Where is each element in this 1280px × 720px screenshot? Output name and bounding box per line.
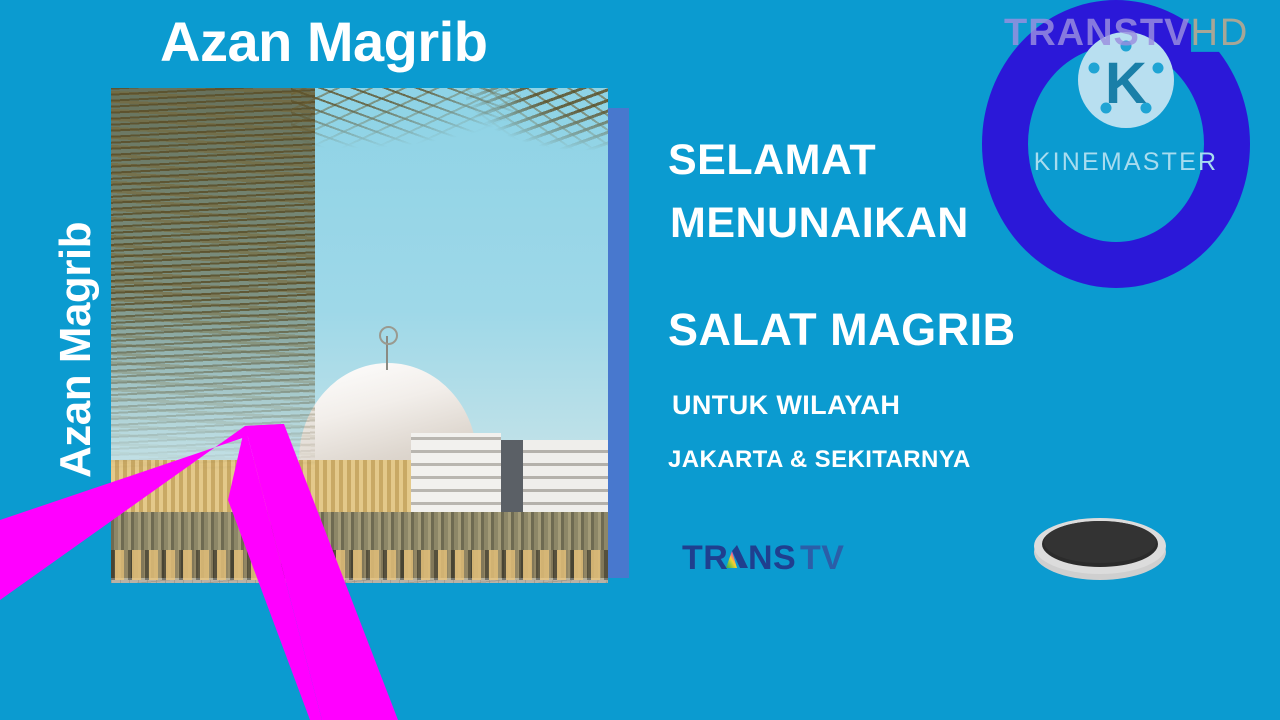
transtv-logo: TR NS TV	[682, 538, 862, 578]
transtv-hd-suffix: HD	[1190, 12, 1249, 54]
message-line-region: JAKARTA & SEKITARNYA	[668, 447, 1098, 472]
photo-willow-branches	[111, 88, 315, 472]
kinemaster-wordmark: KINEMASTER	[966, 148, 1280, 177]
transtv-logo-tv: TV	[800, 539, 844, 577]
photo-plaza-ground	[111, 580, 608, 583]
kinemaster-watermark: K TRANSTVHD KINEMASTER	[966, 0, 1280, 318]
photo-mosque-arcade	[111, 550, 608, 582]
istiqlal-mosque-photo	[111, 88, 608, 583]
transtv-hd-watermark: TRANSTVHD	[1004, 12, 1264, 55]
vertical-side-title: Azan Magrib	[51, 190, 101, 510]
message-line-untuk-wilayah: UNTUK WILAYAH	[672, 391, 1098, 419]
photo-right-branches	[466, 88, 608, 166]
dark-ellipse-bowl	[1032, 512, 1168, 582]
transtv-logo-tr: TR	[682, 539, 728, 577]
broadcast-overlay-screen: Azan Magrib Azan Magrib SELAMAT MENUNAIK…	[0, 0, 1280, 720]
page-title: Azan Magrib	[160, 14, 487, 70]
transtv-hd-name: TRANSTV	[1004, 12, 1190, 54]
transtv-logo-ns: NS	[748, 539, 796, 577]
photo-accent-bar	[608, 108, 629, 578]
svg-text:K: K	[1105, 51, 1147, 116]
photo-crescent-icon	[379, 326, 398, 345]
